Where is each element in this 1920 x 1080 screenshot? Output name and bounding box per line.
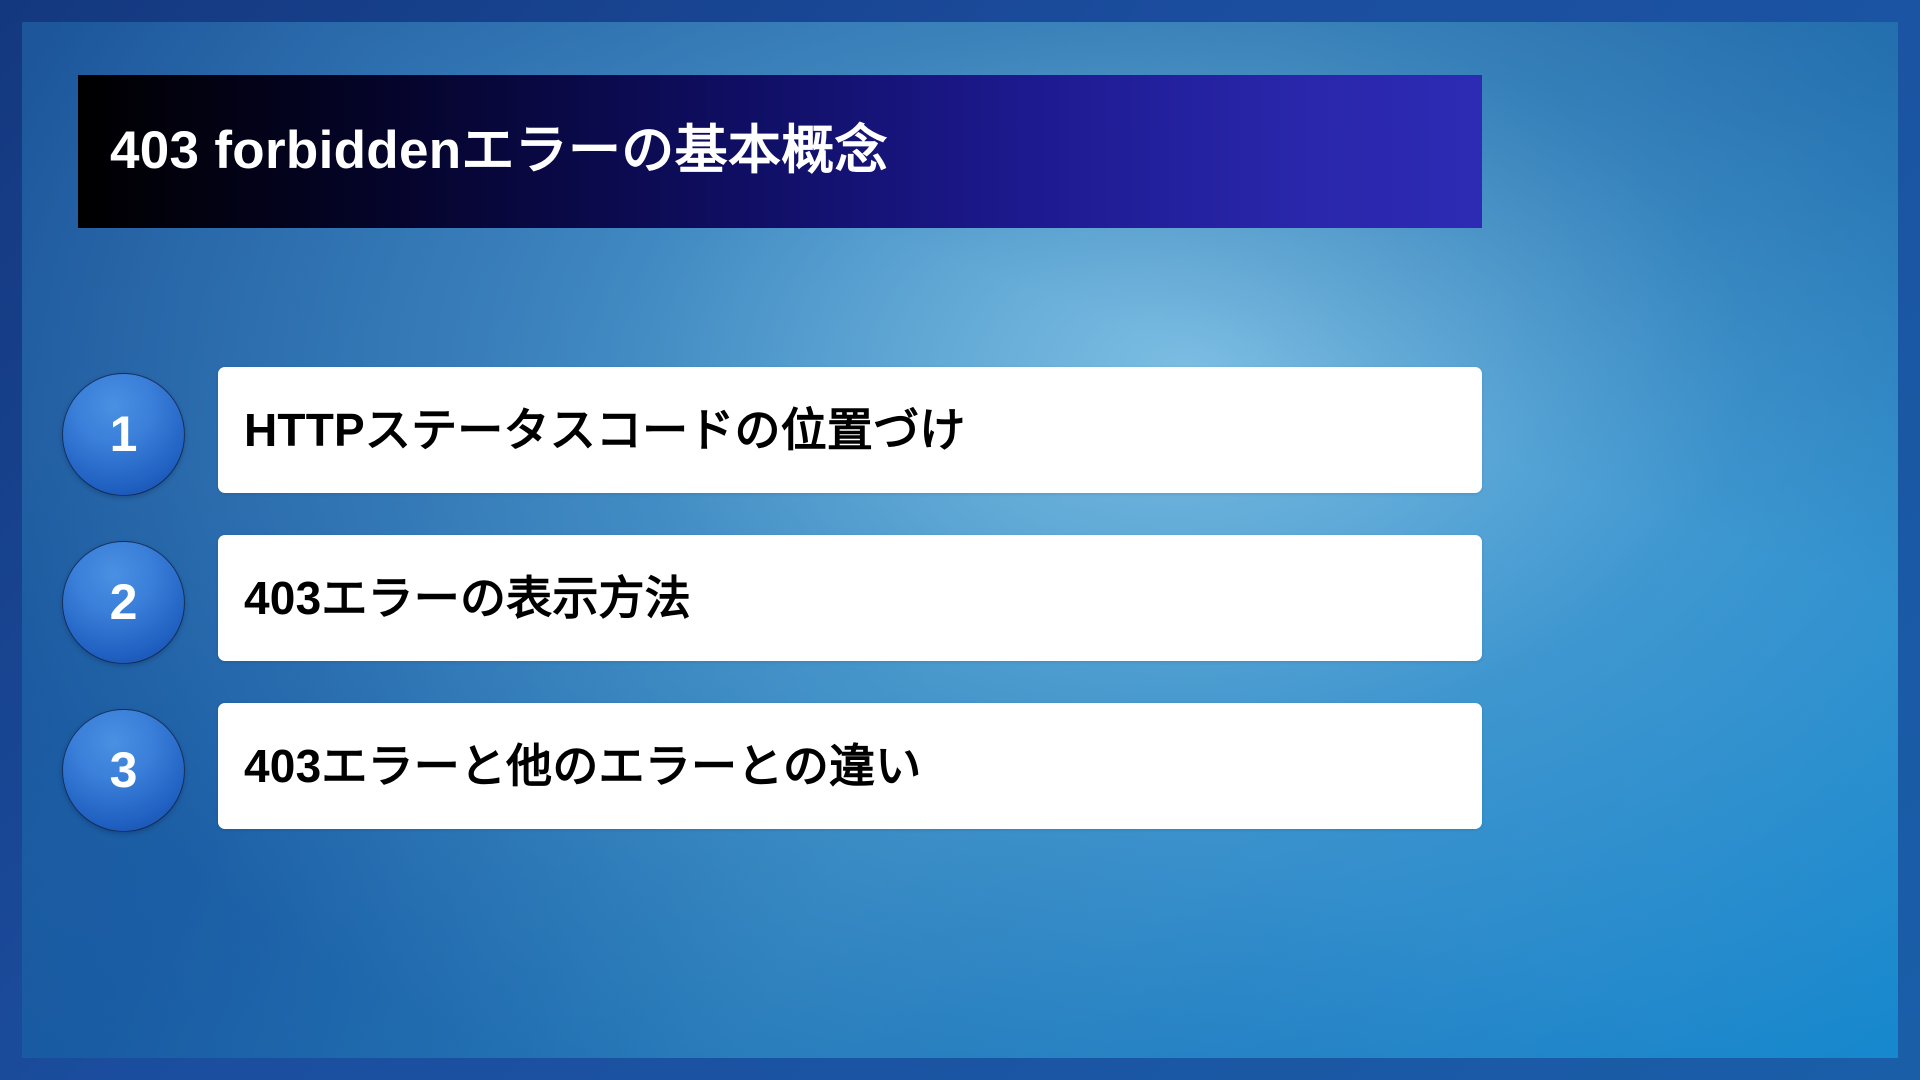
page-title: 403 forbiddenエラーの基本概念 bbox=[78, 122, 888, 180]
item-label: 403エラーと他のエラーとの違い bbox=[218, 740, 922, 793]
item-number-badge: 1 bbox=[62, 373, 185, 496]
item-card[interactable]: 403エラーと他のエラーとの違い bbox=[218, 703, 1482, 829]
item-number-label: 3 bbox=[110, 745, 138, 795]
item-card[interactable]: 403エラーの表示方法 bbox=[218, 535, 1482, 661]
item-label: HTTPステータスコードの位置づけ bbox=[218, 404, 966, 457]
item-number-badge: 2 bbox=[62, 541, 185, 664]
list-item[interactable]: 2 403エラーの表示方法 bbox=[0, 535, 1920, 661]
title-banner: 403 forbiddenエラーの基本概念 bbox=[78, 75, 1482, 228]
slide-root: 403 forbiddenエラーの基本概念 1 HTTPステータスコードの位置づ… bbox=[0, 0, 1920, 1080]
list-item[interactable]: 1 HTTPステータスコードの位置づけ bbox=[0, 367, 1920, 493]
item-label: 403エラーの表示方法 bbox=[218, 572, 691, 625]
item-card[interactable]: HTTPステータスコードの位置づけ bbox=[218, 367, 1482, 493]
item-number-label: 1 bbox=[110, 409, 138, 459]
list-item[interactable]: 3 403エラーと他のエラーとの違い bbox=[0, 703, 1920, 829]
item-number-badge: 3 bbox=[62, 709, 185, 832]
item-number-label: 2 bbox=[110, 577, 138, 627]
